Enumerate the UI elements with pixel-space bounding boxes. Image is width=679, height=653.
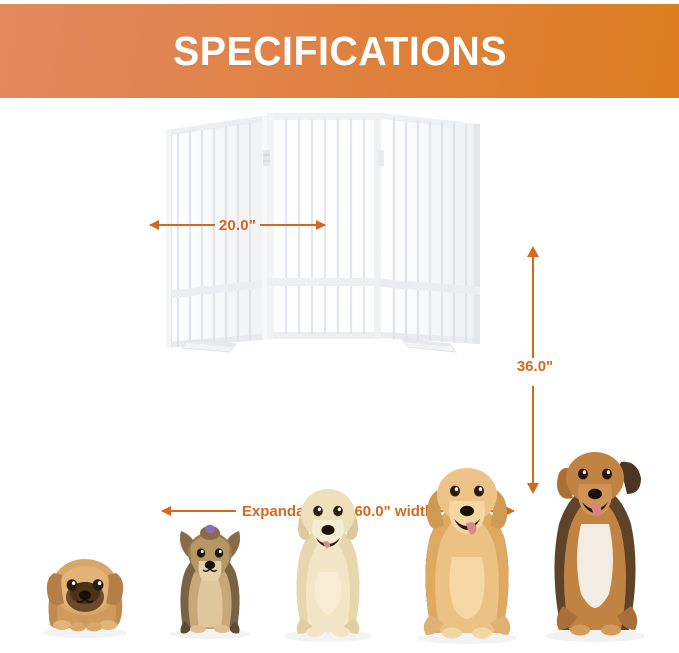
- specifications-page: SPECIFICATIONS: [0, 0, 679, 653]
- gate-hinge-right: [378, 150, 384, 166]
- dog-shepherd-mix: [525, 428, 665, 643]
- dog-yellow-labrador: [268, 468, 388, 643]
- width-arrow-left-icon: [150, 224, 215, 226]
- dog-golden-retriever: [400, 447, 535, 645]
- specifications-banner: SPECIFICATIONS: [0, 4, 679, 98]
- width-dimension-label: 20.0": [215, 217, 260, 234]
- dog-pekingese-puppy: [28, 529, 143, 639]
- height-dimension-label: 36.0": [505, 358, 565, 375]
- dog-size-comparison-row: [0, 420, 679, 653]
- height-line-upper: [532, 254, 534, 358]
- pet-gate-illustration: [150, 108, 530, 398]
- dog-yorkshire-terrier: [155, 501, 265, 641]
- page-title: SPECIFICATIONS: [172, 31, 506, 72]
- gate-panel-right: [378, 113, 480, 344]
- width-arrow-right-icon: [260, 224, 325, 226]
- product-diagram: 20.0" 36.0" Expandable for 60.0" width: [0, 98, 679, 438]
- gate-hinge: [263, 150, 270, 166]
- width-dimension: 20.0": [150, 212, 325, 238]
